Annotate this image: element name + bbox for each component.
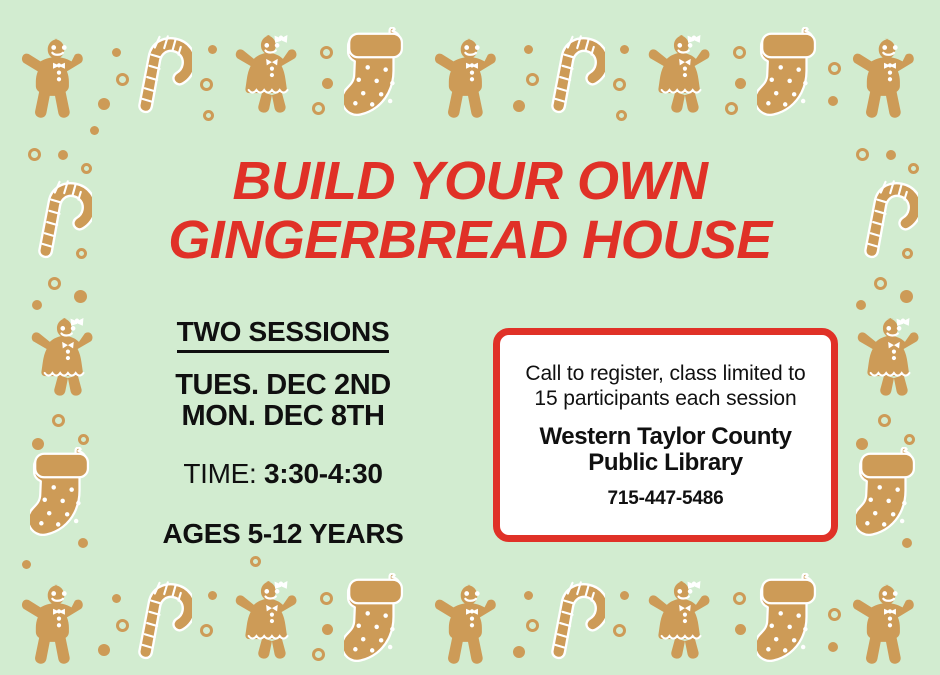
confetti-ring: [78, 434, 89, 445]
confetti-dot: [98, 98, 110, 110]
confetti-ring: [874, 277, 887, 290]
confetti-ring: [526, 73, 539, 86]
confetti-dot: [322, 624, 333, 635]
confetti-dot: [90, 126, 99, 135]
confetti-ring: [613, 78, 626, 91]
confetti-dot: [208, 45, 217, 54]
registration-note: Call to register, class limited to 15 pa…: [500, 361, 831, 411]
confetti-ring: [725, 102, 738, 115]
stocking-icon: [344, 573, 406, 665]
confetti-ring: [312, 102, 325, 115]
confetti-dot: [112, 594, 121, 603]
confetti-dot: [856, 438, 868, 450]
stocking-icon: [344, 27, 406, 119]
confetti-ring: [616, 110, 627, 121]
confetti-ring: [203, 110, 214, 121]
confetti-ring: [733, 46, 746, 59]
confetti-dot: [735, 78, 746, 89]
gingerbread-girl-icon: [850, 307, 934, 404]
gingerbread-man-icon: [427, 572, 513, 664]
poster-canvas: BUILD YOUR OWN GINGERBREAD HOUSE TWO SES…: [0, 0, 940, 675]
confetti-dot: [513, 646, 525, 658]
confetti-ring: [320, 592, 333, 605]
stocking-icon: [30, 447, 92, 539]
confetti-dot: [620, 591, 629, 600]
gingerbread-man-icon: [845, 572, 931, 664]
confetti-ring: [733, 592, 746, 605]
confetti-dot: [524, 45, 533, 54]
gingerbread-girl-icon: [228, 24, 312, 121]
candy-cane-icon: [543, 571, 605, 668]
confetti-dot: [828, 96, 838, 106]
confetti-dot: [900, 290, 913, 303]
confetti-ring: [200, 78, 213, 91]
confetti-dot: [112, 48, 121, 57]
session-date-2: MON. DEC 8TH: [108, 401, 458, 432]
stocking-icon: [757, 27, 819, 119]
gingerbread-girl-icon: [641, 570, 725, 667]
candy-cane-icon: [130, 571, 192, 668]
confetti-ring: [828, 62, 841, 75]
confetti-dot: [828, 642, 838, 652]
gingerbread-girl-icon: [228, 570, 312, 667]
session-time: TIME: 3:30-4:30: [108, 458, 458, 490]
confetti-ring: [828, 608, 841, 621]
stocking-icon: [757, 573, 819, 665]
confetti-ring: [312, 648, 325, 661]
confetti-ring: [116, 73, 129, 86]
confetti-ring: [200, 624, 213, 637]
confetti-ring: [526, 619, 539, 632]
confetti-ring: [52, 414, 65, 427]
library-name-line-1: Western Taylor County: [539, 424, 791, 450]
confetti-dot: [32, 300, 42, 310]
confetti-ring: [878, 414, 891, 427]
confetti-dot: [620, 45, 629, 54]
confetti-dot: [208, 591, 217, 600]
confetti-dot: [78, 538, 88, 548]
gingerbread-girl-icon: [641, 24, 725, 121]
confetti-dot: [32, 438, 44, 450]
library-phone: 715-447-5486: [608, 488, 724, 510]
confetti-dot: [74, 290, 87, 303]
library-name: Western Taylor County Public Library: [539, 424, 791, 476]
poster-title: BUILD YOUR OWN GINGERBREAD HOUSE: [0, 152, 940, 270]
time-label: TIME:: [183, 458, 256, 489]
candy-cane-icon: [130, 25, 192, 122]
time-value: 3:30-4:30: [264, 458, 383, 489]
confetti-dot: [22, 560, 31, 569]
session-date-1: TUES. DEC 2ND: [108, 370, 458, 401]
gingerbread-girl-icon: [24, 307, 108, 404]
confetti-dot: [322, 78, 333, 89]
confetti-ring: [116, 619, 129, 632]
confetti-ring: [320, 46, 333, 59]
library-name-line-2: Public Library: [539, 450, 791, 476]
registration-callout-box: Call to register, class limited to 15 pa…: [493, 328, 838, 542]
gingerbread-man-icon: [427, 26, 513, 118]
confetti-dot: [524, 591, 533, 600]
confetti-dot: [856, 300, 866, 310]
confetti-dot: [98, 644, 110, 656]
confetti-dot: [735, 624, 746, 635]
stocking-icon: [856, 447, 918, 539]
confetti-ring: [904, 434, 915, 445]
event-details: TWO SESSIONS TUES. DEC 2ND MON. DEC 8TH …: [108, 316, 458, 550]
gingerbread-man-icon: [14, 26, 100, 118]
gingerbread-man-icon: [14, 572, 100, 664]
sessions-heading-wrap: TWO SESSIONS: [108, 316, 458, 353]
confetti-ring: [613, 624, 626, 637]
gingerbread-man-icon: [845, 26, 931, 118]
sessions-heading: TWO SESSIONS: [177, 316, 390, 353]
title-line-1: BUILD YOUR OWN: [0, 152, 940, 211]
confetti-ring: [48, 277, 61, 290]
confetti-dot: [902, 538, 912, 548]
confetti-ring: [250, 556, 261, 567]
session-dates: TUES. DEC 2ND MON. DEC 8TH: [108, 370, 458, 432]
age-range: AGES 5-12 YEARS: [108, 518, 458, 550]
confetti-dot: [513, 100, 525, 112]
title-line-2: GINGERBREAD HOUSE: [0, 211, 940, 270]
candy-cane-icon: [543, 25, 605, 122]
